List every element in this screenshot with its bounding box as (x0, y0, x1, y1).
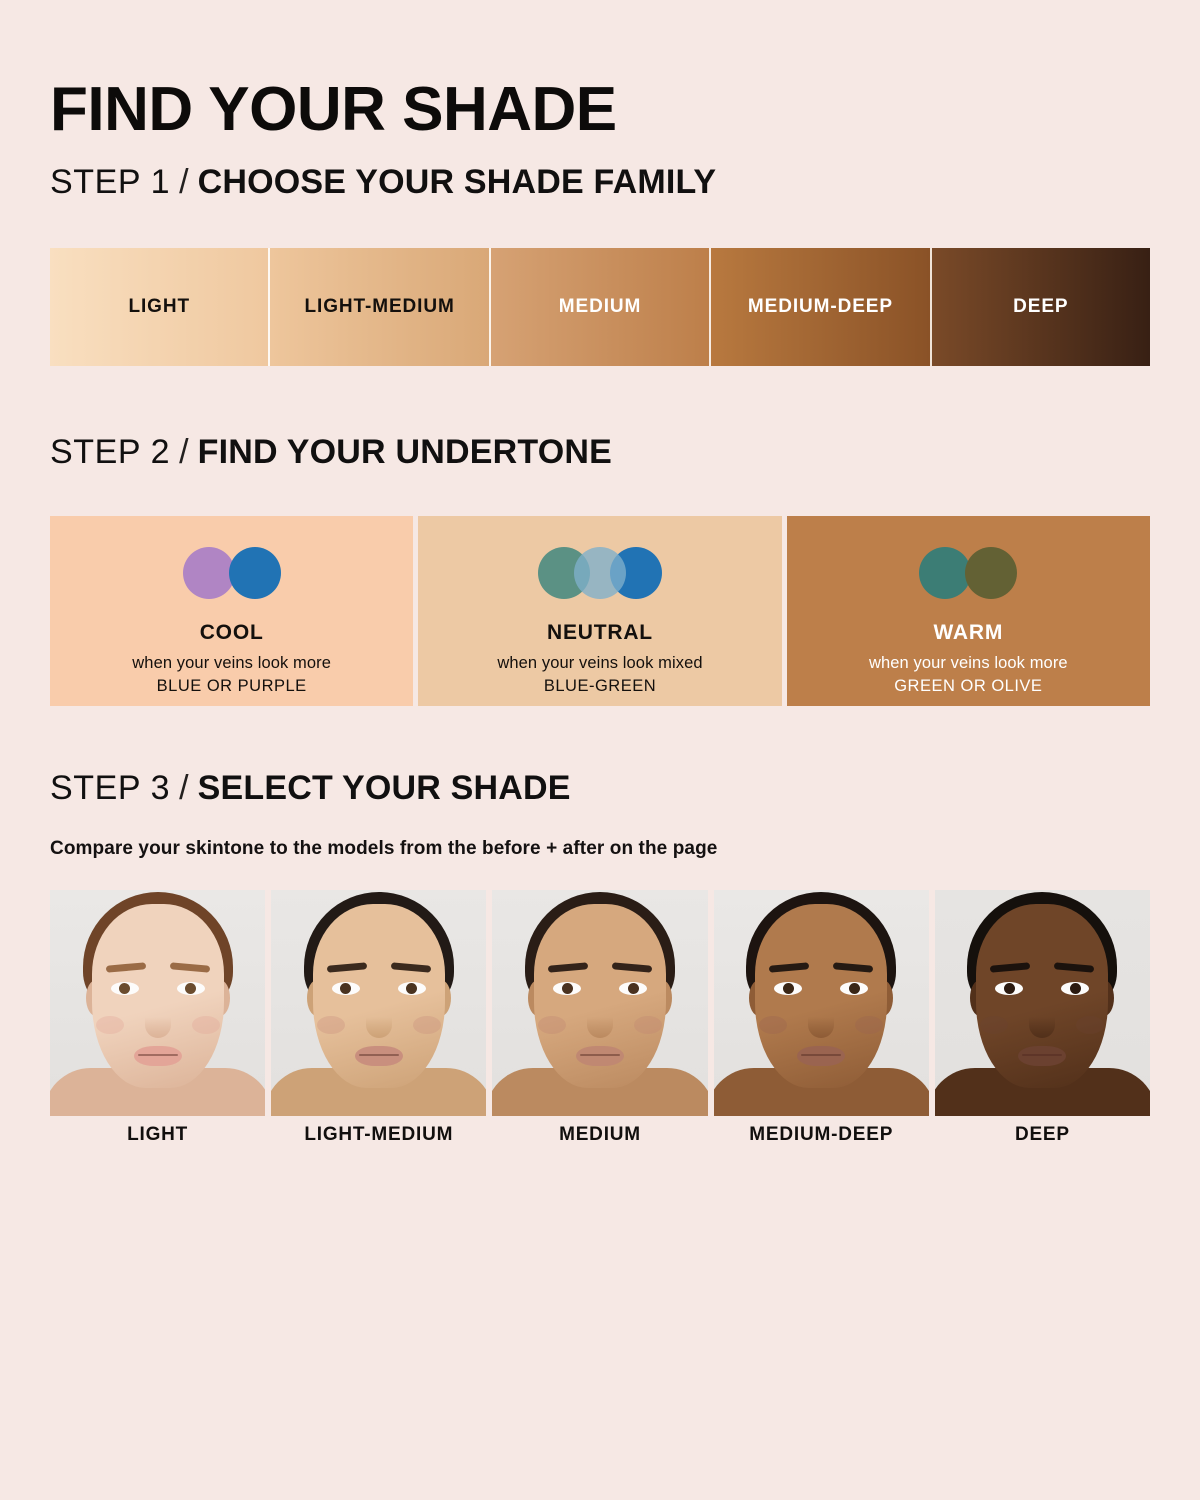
portrait-eye-right (398, 982, 426, 995)
portrait-iris-left (1004, 983, 1015, 994)
portrait-cheek-right (634, 1016, 662, 1034)
undertone-dot-1 (919, 547, 971, 599)
step-2-label: STEP 2 (50, 433, 170, 471)
undertone-description-line-2: BLUE-GREEN (544, 677, 656, 696)
portrait-lips (576, 1046, 624, 1066)
shade-swatch-light[interactable]: LIGHT (50, 248, 270, 366)
undertone-panel-cool[interactable]: COOLwhen your veins look moreBLUE OR PUR… (50, 516, 413, 706)
page-title: FIND YOUR SHADE (50, 76, 617, 144)
portrait-eye-right (840, 982, 868, 995)
portrait-eye-right (619, 982, 647, 995)
portrait-cheek-left (317, 1016, 345, 1034)
shade-swatch-label: LIGHT (128, 296, 190, 318)
step-3-heading: STEP 3/SELECT YOUR SHADE (50, 768, 571, 808)
shade-family-bar: LIGHTLIGHT-MEDIUMMEDIUMMEDIUM-DEEPDEEP (50, 248, 1150, 366)
portrait-cheek-right (855, 1016, 883, 1034)
undertone-description-line-2: GREEN OR OLIVE (894, 677, 1042, 696)
undertone-panel-warm[interactable]: WARMwhen your veins look moreGREEN OR OL… (787, 516, 1150, 706)
shade-swatch-label: LIGHT-MEDIUM (305, 296, 455, 318)
shade-swatch-medium-deep[interactable]: MEDIUM-DEEP (711, 248, 931, 366)
shade-swatch-light-medium[interactable]: LIGHT-MEDIUM (270, 248, 490, 366)
portrait-iris-left (562, 983, 573, 994)
model-label-medium: MEDIUM (492, 1124, 707, 1146)
shade-swatch-label: DEEP (1013, 296, 1068, 318)
model-label-light: LIGHT (50, 1124, 265, 1146)
model-photo-row (50, 890, 1150, 1116)
portrait-iris-left (340, 983, 351, 994)
undertone-description-line-2: BLUE OR PURPLE (157, 677, 307, 696)
portrait-iris-right (849, 983, 860, 994)
step-1-title: CHOOSE YOUR SHADE FAMILY (198, 163, 717, 201)
step-1-heading: STEP 1/CHOOSE YOUR SHADE FAMILY (50, 162, 716, 202)
undertone-name: NEUTRAL (547, 621, 653, 645)
undertone-description-line-1: when your veins look more (869, 654, 1068, 673)
portrait-nose (587, 1008, 613, 1038)
portrait-iris-right (406, 983, 417, 994)
step-1-separator: / (170, 163, 197, 201)
portrait-cheek-left (538, 1016, 566, 1034)
step-2-heading: STEP 2/FIND YOUR UNDERTONE (50, 432, 612, 472)
shade-swatch-label: MEDIUM (559, 296, 641, 318)
undertone-description-line-1: when your veins look mixed (497, 654, 702, 673)
step-3-label: STEP 3 (50, 769, 170, 807)
model-photo-light-medium[interactable] (271, 890, 486, 1116)
model-label-light-medium: LIGHT-MEDIUM (271, 1124, 486, 1146)
undertone-dots (183, 545, 281, 601)
undertone-description-line-1: when your veins look more (132, 654, 331, 673)
portrait-cheek-left (96, 1016, 124, 1034)
undertone-dots (919, 545, 1017, 601)
portrait-nose (145, 1008, 171, 1038)
portrait-eye-left (332, 982, 360, 995)
step-1-label: STEP 1 (50, 163, 170, 201)
undertone-dots (538, 545, 662, 601)
portrait-iris-right (1070, 983, 1081, 994)
model-photo-deep[interactable] (935, 890, 1150, 1116)
portrait-illustration (50, 890, 265, 1116)
find-your-shade-page: FIND YOUR SHADE STEP 1/CHOOSE YOUR SHADE… (0, 0, 1200, 1500)
portrait-eye-left (553, 982, 581, 995)
undertone-dot-1 (183, 547, 235, 599)
portrait-iris-left (783, 983, 794, 994)
undertone-dot-2 (965, 547, 1017, 599)
portrait-nose (366, 1008, 392, 1038)
model-photo-medium[interactable] (492, 890, 707, 1116)
portrait-eye-left (111, 982, 139, 995)
portrait-illustration (271, 890, 486, 1116)
undertone-name: COOL (200, 621, 264, 645)
undertone-dot-2 (574, 547, 626, 599)
shade-swatch-deep[interactable]: DEEP (932, 248, 1150, 366)
portrait-nose (808, 1008, 834, 1038)
portrait-iris-left (119, 983, 130, 994)
undertone-dot-2 (229, 547, 281, 599)
model-photo-light[interactable] (50, 890, 265, 1116)
portrait-nose (1029, 1008, 1055, 1038)
step-2-title: FIND YOUR UNDERTONE (198, 433, 612, 471)
step-2-separator: / (170, 433, 197, 471)
portrait-cheek-left (759, 1016, 787, 1034)
step-3-title: SELECT YOUR SHADE (198, 769, 571, 807)
portrait-iris-right (185, 983, 196, 994)
portrait-illustration (492, 890, 707, 1116)
shade-swatch-label: MEDIUM-DEEP (748, 296, 893, 318)
portrait-cheek-right (413, 1016, 441, 1034)
portrait-lips (355, 1046, 403, 1066)
step-3-separator: / (170, 769, 197, 807)
portrait-lips (797, 1046, 845, 1066)
undertone-name: WARM (933, 621, 1003, 645)
undertone-panel-neutral[interactable]: NEUTRALwhen your veins look mixedBLUE-GR… (418, 516, 781, 706)
portrait-illustration (935, 890, 1150, 1116)
model-label-row: LIGHTLIGHT-MEDIUMMEDIUMMEDIUM-DEEPDEEP (50, 1124, 1150, 1146)
step-3-subtitle: Compare your skintone to the models from… (50, 838, 717, 860)
portrait-lips (1018, 1046, 1066, 1066)
portrait-eye-left (774, 982, 802, 995)
portrait-iris-right (628, 983, 639, 994)
portrait-lips (134, 1046, 182, 1066)
shade-swatch-medium[interactable]: MEDIUM (491, 248, 711, 366)
portrait-illustration (714, 890, 929, 1116)
undertone-panel-row: COOLwhen your veins look moreBLUE OR PUR… (50, 516, 1150, 706)
model-label-deep: DEEP (935, 1124, 1150, 1146)
model-photo-medium-deep[interactable] (714, 890, 929, 1116)
model-label-medium-deep: MEDIUM-DEEP (714, 1124, 929, 1146)
portrait-eye-right (177, 982, 205, 995)
portrait-cheek-right (192, 1016, 220, 1034)
